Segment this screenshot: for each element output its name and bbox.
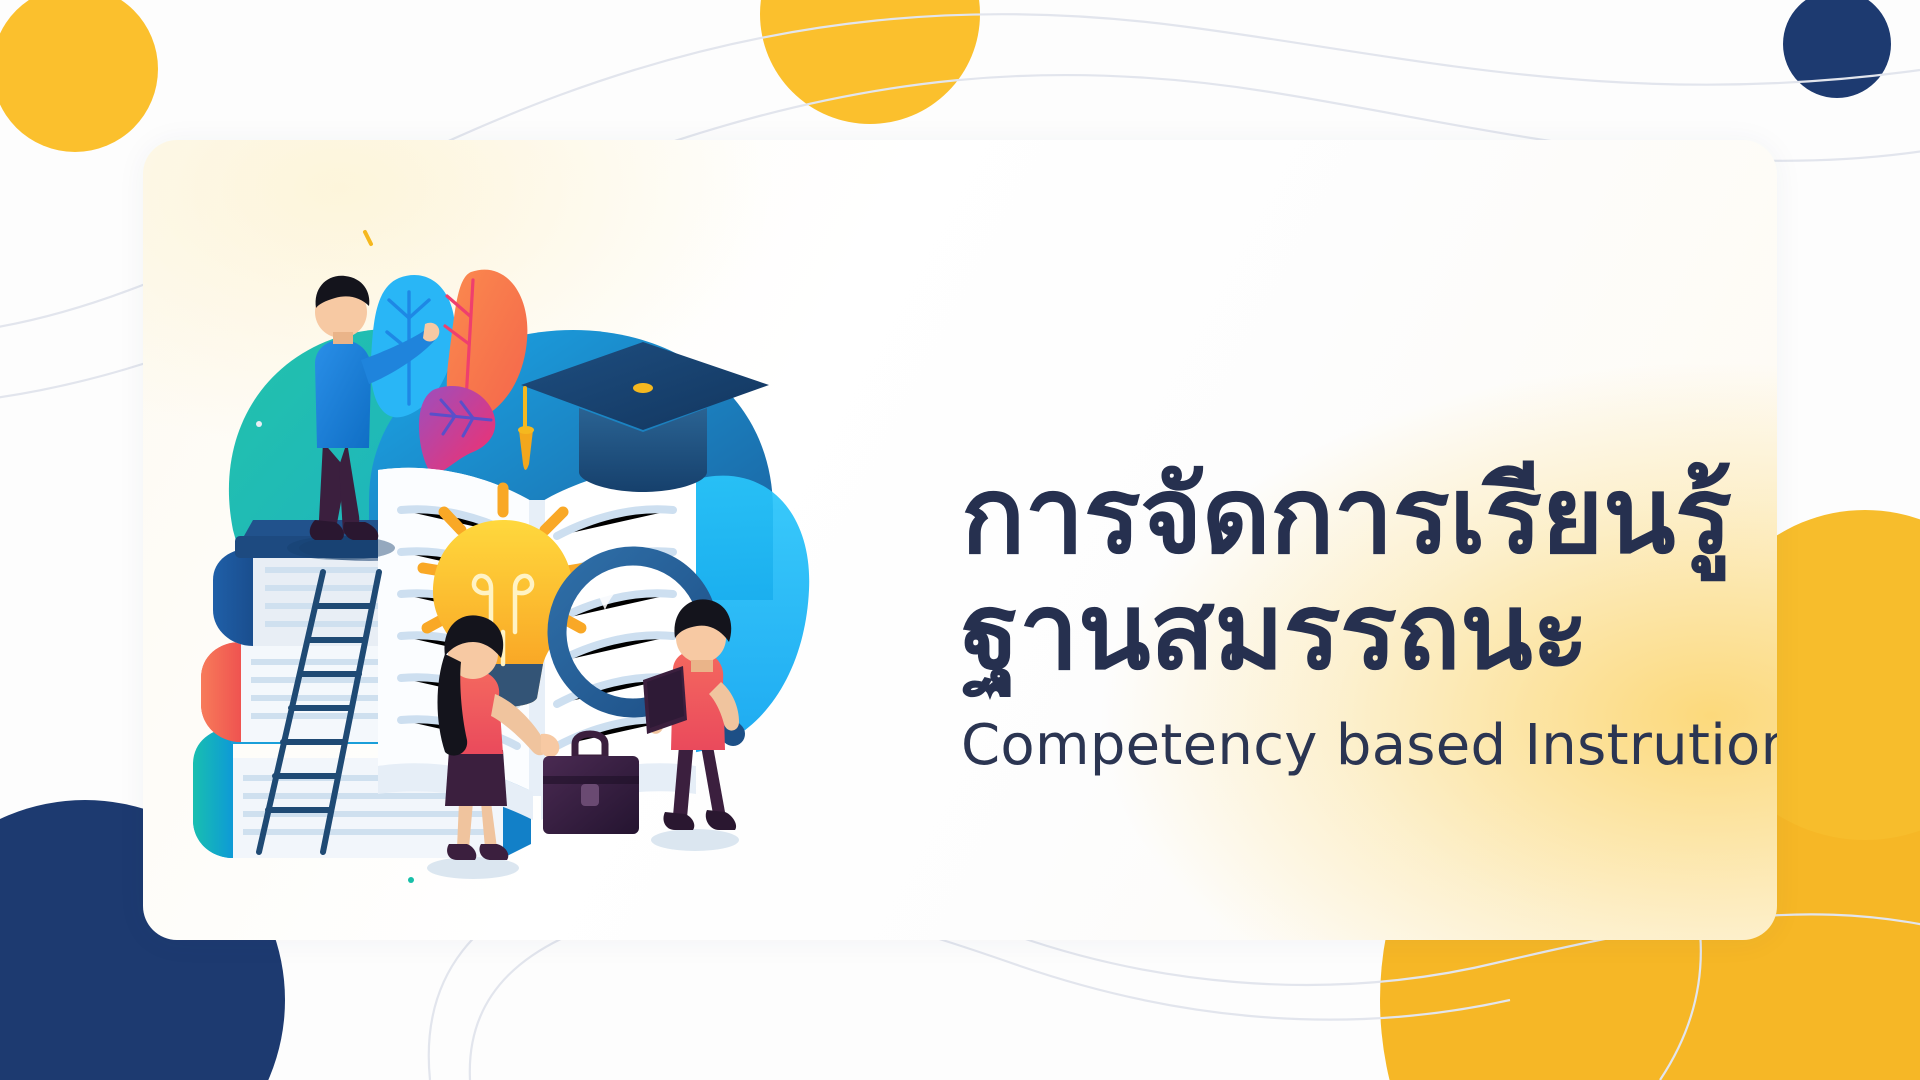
title-block: การจัดการเรียนรู้ ฐานสมรรถนะ Competency … bbox=[961, 458, 1777, 777]
page-subtitle: Competency based Instrution bbox=[961, 715, 1777, 777]
slide-canvas: การจัดการเรียนรู้ ฐานสมรรถนะ Competency … bbox=[0, 0, 1920, 1080]
page-title-line-1: การจัดการเรียนรู้ bbox=[961, 458, 1777, 574]
education-learning-illustration bbox=[173, 180, 933, 900]
content-card: การจัดการเรียนรู้ ฐานสมรรถนะ Competency … bbox=[143, 140, 1777, 940]
page-title-line-2: ฐานสมรรถนะ bbox=[961, 574, 1777, 690]
